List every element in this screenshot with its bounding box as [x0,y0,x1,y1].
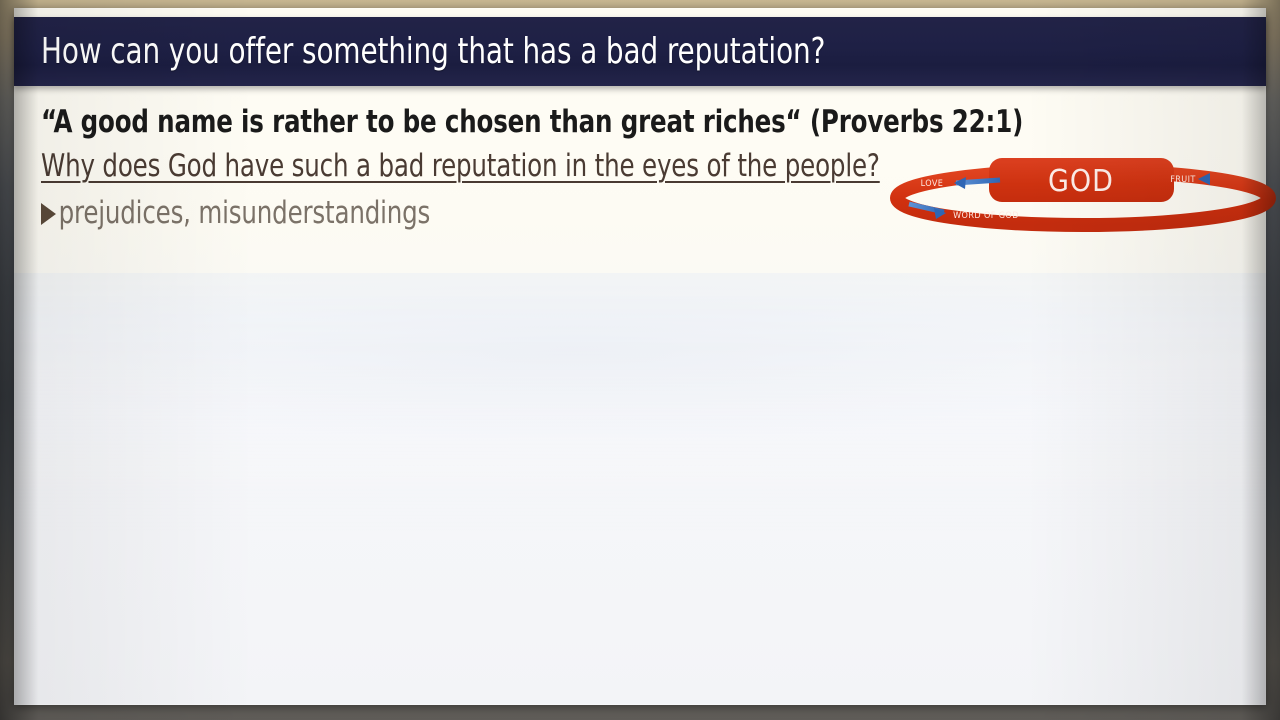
slide-frame: How can you offer something that has a b… [0,0,1280,720]
slide-title-bar: How can you offer something that has a b… [14,17,1266,86]
diagram-node-label-word-of-god: WORD OF GOD [953,211,1019,221]
diagram-node-label-fruit: FRUIT [1170,175,1196,185]
body-line-question: Why does God have such a bad reputation … [41,144,833,189]
diagram-node-label-love: LOVE [921,179,944,189]
slide-surface: How can you offer something that has a b… [14,8,1266,705]
body-line-bullet: prejudices, misunderstandings [41,191,833,236]
page-title: How can you offer something that has a b… [41,31,825,72]
god-cycle-diagram: GOD LOVE WORD OF GOD FRUIT [888,150,1278,232]
triangle-right-bullet-icon [41,203,56,225]
body-line-bullet-label: prejudices, misunderstandings [59,191,431,236]
body-line-quote: “A good name is rather to be chosen than… [41,100,833,144]
diagram-center-label: GOD [1048,164,1114,199]
slide-body: “A good name is rather to be chosen than… [41,100,941,237]
slide-background-haze [14,273,1266,705]
